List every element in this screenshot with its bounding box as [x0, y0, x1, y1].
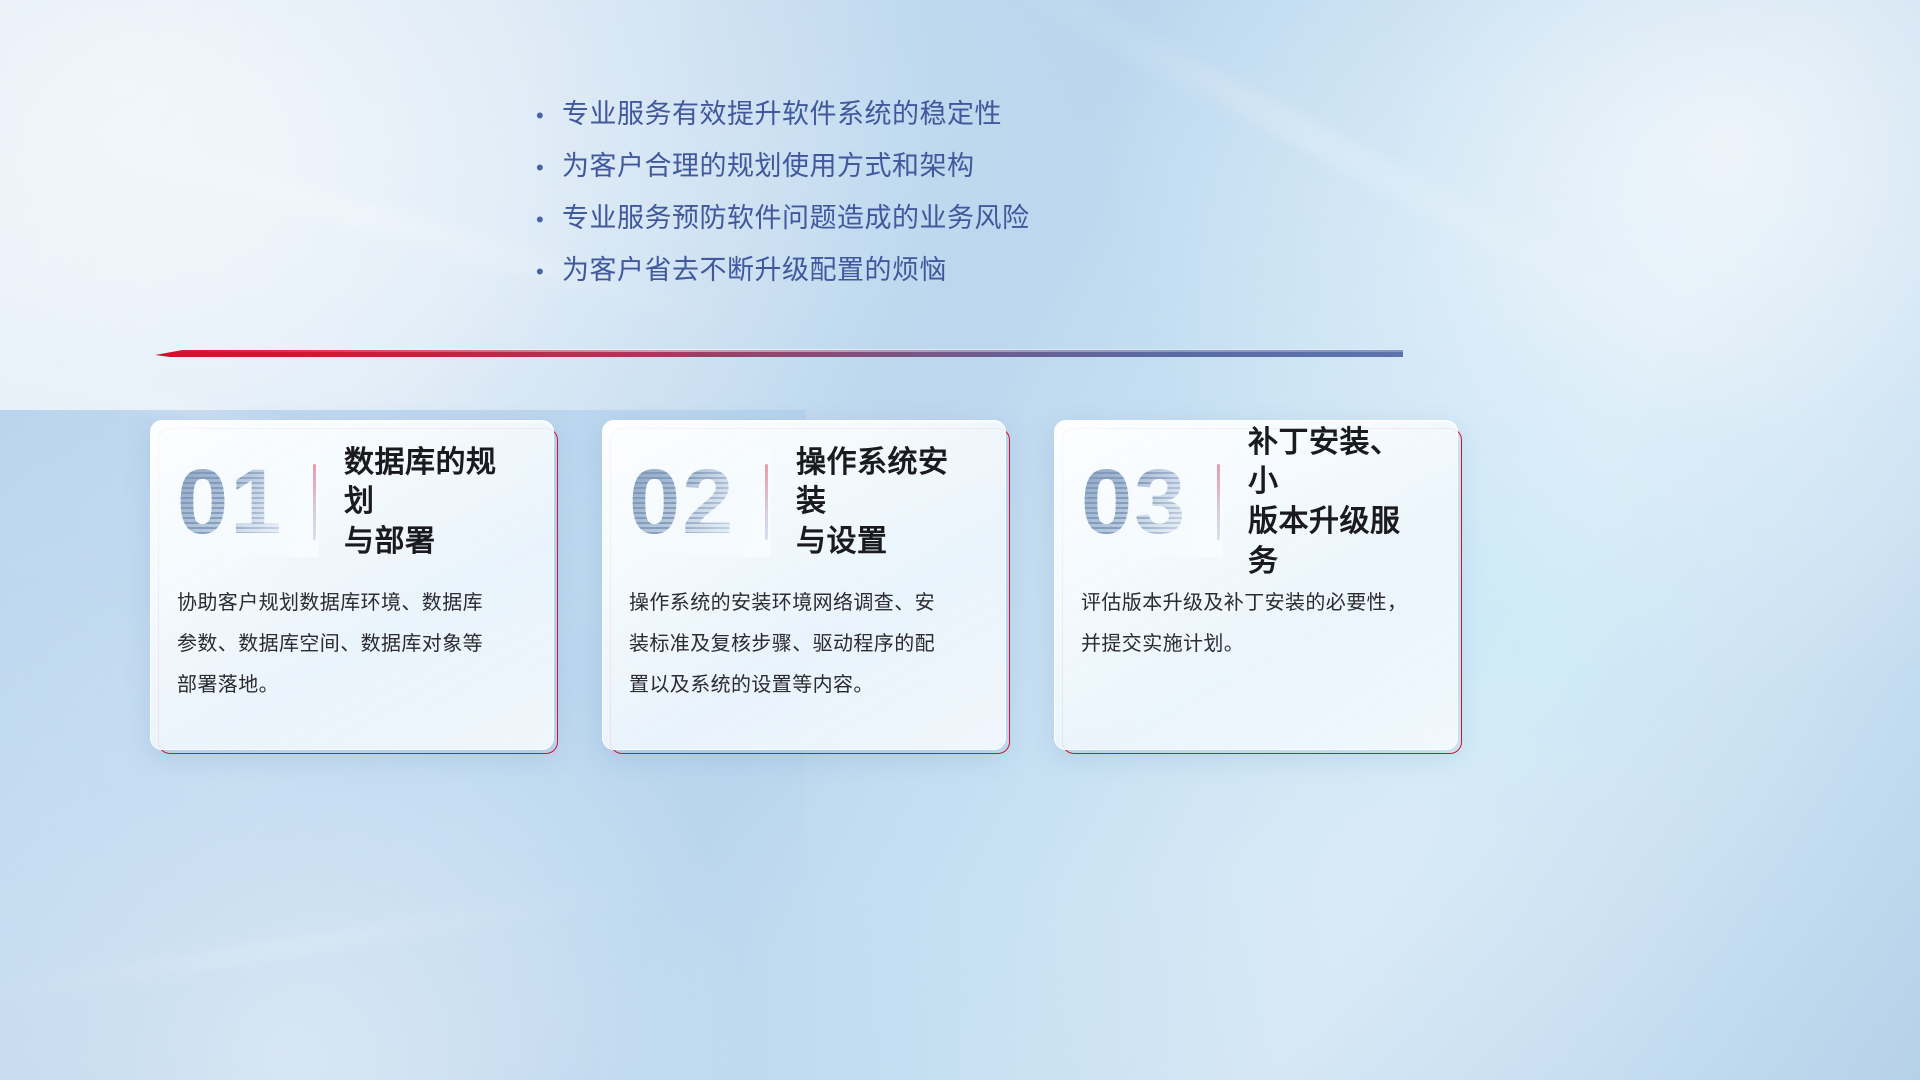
section-divider — [155, 348, 1403, 360]
list-item: • 专业服务有效提升软件系统的稳定性 — [536, 92, 1156, 144]
list-item: • 为客户省去不断升级配置的烦恼 — [536, 248, 1156, 300]
card-title-line: 操作系统安装 — [796, 443, 975, 522]
card-description: 评估版本升级及补丁安装的必要性， 并提交实施计划。 — [1081, 583, 1427, 665]
list-item-label: 专业服务预防软件问题造成的业务风险 — [562, 196, 1030, 235]
card-description: 操作系统的安装环境网络调查、安 装标准及复核步骤、驱动程序的配 置以及系统的设置… — [629, 583, 975, 706]
card-title-line: 数据库的规划 — [344, 443, 523, 522]
card-title: 数据库的规划 与部署 — [344, 443, 523, 562]
list-item-label: 为客户省去不断升级配置的烦恼 — [562, 248, 947, 287]
card-number: 01 — [177, 450, 309, 554]
card-number: 03 — [1081, 450, 1213, 554]
card-title-line: 版本升级服务 — [1248, 502, 1427, 581]
card-header: 01 数据库的规划 与部署 — [177, 447, 523, 557]
service-card[interactable]: 02 操作系统安装 与设置 操作系统的安装环境网络调查、安 装标准及复核步骤、驱… — [602, 420, 1006, 750]
list-item: • 专业服务预防软件问题造成的业务风险 — [536, 196, 1156, 248]
card-accent-bar — [1217, 464, 1220, 540]
card-surface: 02 操作系统安装 与设置 操作系统的安装环境网络调查、安 装标准及复核步骤、驱… — [602, 420, 1006, 750]
list-item: • 为客户合理的规划使用方式和架构 — [536, 144, 1156, 196]
card-title-line: 与部署 — [344, 522, 523, 562]
bullet-point-icon: • — [536, 261, 562, 283]
card-description-line: 协助客户规划数据库环境、数据库 — [177, 583, 523, 624]
bullet-point-icon: • — [536, 105, 562, 127]
card-description-line: 装标准及复核步骤、驱动程序的配 — [629, 624, 975, 665]
card-description: 协助客户规划数据库环境、数据库 参数、数据库空间、数据库对象等 部署落地。 — [177, 583, 523, 706]
card-description-line: 置以及系统的设置等内容。 — [629, 665, 975, 706]
card-accent-bar — [313, 464, 316, 540]
card-description-line: 操作系统的安装环境网络调查、安 — [629, 583, 975, 624]
service-card[interactable]: 01 数据库的规划 与部署 协助客户规划数据库环境、数据库 参数、数据库空间、数… — [150, 420, 554, 750]
card-title: 补丁安装、小 版本升级服务 — [1248, 423, 1427, 581]
card-surface: 01 数据库的规划 与部署 协助客户规划数据库环境、数据库 参数、数据库空间、数… — [150, 420, 554, 750]
card-title-line: 与设置 — [796, 522, 975, 562]
card-header: 03 补丁安装、小 版本升级服务 — [1081, 447, 1427, 557]
card-title: 操作系统安装 与设置 — [796, 443, 975, 562]
list-item-label: 为客户合理的规划使用方式和架构 — [562, 144, 975, 183]
card-header: 02 操作系统安装 与设置 — [629, 447, 975, 557]
card-title-line: 补丁安装、小 — [1248, 423, 1427, 502]
bullet-point-icon: • — [536, 157, 562, 179]
card-description-line: 评估版本升级及补丁安装的必要性， — [1081, 583, 1427, 624]
card-description-line: 参数、数据库空间、数据库对象等 — [177, 624, 523, 665]
service-card[interactable]: 03 补丁安装、小 版本升级服务 评估版本升级及补丁安装的必要性， 并提交实施计… — [1054, 420, 1458, 750]
service-card-group: 01 数据库的规划 与部署 协助客户规划数据库环境、数据库 参数、数据库空间、数… — [150, 420, 1460, 750]
list-item-label: 专业服务有效提升软件系统的稳定性 — [562, 92, 1002, 131]
card-description-line: 并提交实施计划。 — [1081, 624, 1427, 665]
divider-highlight — [155, 349, 1403, 352]
card-description-line: 部署落地。 — [177, 665, 523, 706]
card-surface: 03 补丁安装、小 版本升级服务 评估版本升级及补丁安装的必要性， 并提交实施计… — [1054, 420, 1458, 750]
benefits-bullet-list: • 专业服务有效提升软件系统的稳定性 • 为客户合理的规划使用方式和架构 • 专… — [536, 92, 1156, 300]
card-accent-bar — [765, 464, 768, 540]
bullet-point-icon: • — [536, 209, 562, 231]
card-number: 02 — [629, 450, 761, 554]
